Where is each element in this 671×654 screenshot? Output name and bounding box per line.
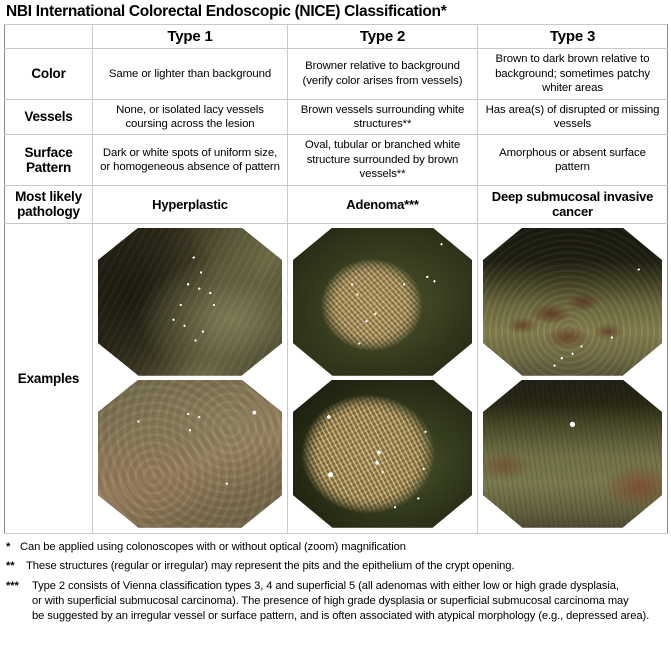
cell-color-type-1: Same or lighter than background xyxy=(93,49,288,99)
endoscopic-image-type2-bottom xyxy=(293,380,472,528)
footnotes: * Can be applied using colonoscopes with… xyxy=(4,534,667,624)
table-row-surface-pattern: Surface Pattern Dark or white spots of u… xyxy=(5,135,668,185)
footnote-1-text: Can be applied using colonoscopes with o… xyxy=(20,540,665,555)
row-label-color: Color xyxy=(5,49,93,99)
cell-vessels-type-2: Brown vessels surrounding white structur… xyxy=(288,99,478,135)
cell-vessels-type-3: Has area(s) of disrupted or missing vess… xyxy=(478,99,668,135)
footnote-2-marker: ** xyxy=(6,559,26,574)
examples-cell-type-1 xyxy=(93,223,288,533)
footnote-2-text: These structures (regular or irregular) … xyxy=(26,559,665,574)
table-row-vessels: Vessels None, or isolated lacy vessels c… xyxy=(5,99,668,135)
endoscopic-image-type3-bottom xyxy=(483,380,662,528)
header-corner-cell xyxy=(5,25,93,49)
footnote-1-marker: * xyxy=(6,540,20,555)
image-stack-type-1 xyxy=(97,227,283,530)
cell-surface-pattern-type-1: Dark or white spots of uniform size, or … xyxy=(93,135,288,185)
cell-pathology-type-3: Deep submucosal invasive cancer xyxy=(478,185,668,223)
cell-color-type-3: Brown to dark brown relative to backgrou… xyxy=(478,49,668,99)
cell-pathology-type-2: Adenoma*** xyxy=(288,185,478,223)
figure-title: NBI International Colorectal Endoscopic … xyxy=(4,0,667,24)
footnote-2-line-1: These structures (regular or irregular) … xyxy=(26,559,665,574)
specular-highlights xyxy=(98,228,282,376)
column-header-type-2: Type 2 xyxy=(288,25,478,49)
cell-pathology-type-1: Hyperplastic xyxy=(93,185,288,223)
table-row-color: Color Same or lighter than background Br… xyxy=(5,49,668,99)
row-label-most-likely-pathology: Most likely pathology xyxy=(5,185,93,223)
table-row-most-likely-pathology: Most likely pathology Hyperplastic Adeno… xyxy=(5,185,668,223)
specular-highlights xyxy=(293,228,472,376)
footnote-3-line-3: be suggested by an irregular vessel or s… xyxy=(32,609,665,624)
column-header-type-1: Type 1 xyxy=(93,25,288,49)
row-label-vessels: Vessels xyxy=(5,99,93,135)
specular-highlights xyxy=(483,380,662,528)
row-label-examples: Examples xyxy=(5,223,93,533)
examples-cell-type-2 xyxy=(288,223,478,533)
footnote-3: *** Type 2 consists of Vienna classifica… xyxy=(6,579,665,624)
cell-surface-pattern-type-2: Oval, tubular or branched white structur… xyxy=(288,135,478,185)
table-header-row: Type 1 Type 2 Type 3 xyxy=(5,25,668,49)
specular-highlights xyxy=(98,380,282,528)
footnote-3-line-2: or with superficial submucosal carcinoma… xyxy=(32,594,665,609)
image-stack-type-3 xyxy=(482,227,663,530)
footnote-1-line-1: Can be applied using colonoscopes with o… xyxy=(20,540,665,555)
footnote-2: ** These structures (regular or irregula… xyxy=(6,559,665,574)
footnote-3-text: Type 2 consists of Vienna classification… xyxy=(32,579,665,624)
specular-highlights xyxy=(483,228,662,376)
endoscopic-image-type1-bottom xyxy=(98,380,282,528)
footnote-1: * Can be applied using colonoscopes with… xyxy=(6,540,665,555)
column-header-type-3: Type 3 xyxy=(478,25,668,49)
table-row-examples: Examples xyxy=(5,223,668,533)
endoscopic-image-type3-top xyxy=(483,228,662,376)
endoscopic-image-type1-top xyxy=(98,228,282,376)
cell-vessels-type-1: None, or isolated lacy vessels coursing … xyxy=(93,99,288,135)
nice-classification-table: Type 1 Type 2 Type 3 Color Same or light… xyxy=(4,24,668,534)
row-label-surface-pattern: Surface Pattern xyxy=(5,135,93,185)
cell-color-type-2: Browner relative to background (verify c… xyxy=(288,49,478,99)
endoscopic-image-type2-top xyxy=(293,228,472,376)
footnote-3-line-1: Type 2 consists of Vienna classification… xyxy=(32,579,665,594)
specular-highlights xyxy=(293,380,472,528)
image-stack-type-2 xyxy=(292,227,473,530)
footnote-3-marker: *** xyxy=(6,579,32,624)
cell-surface-pattern-type-3: Amorphous or absent surface pattern xyxy=(478,135,668,185)
nice-classification-figure: NBI International Colorectal Endoscopic … xyxy=(0,0,671,654)
examples-cell-type-3 xyxy=(478,223,668,533)
